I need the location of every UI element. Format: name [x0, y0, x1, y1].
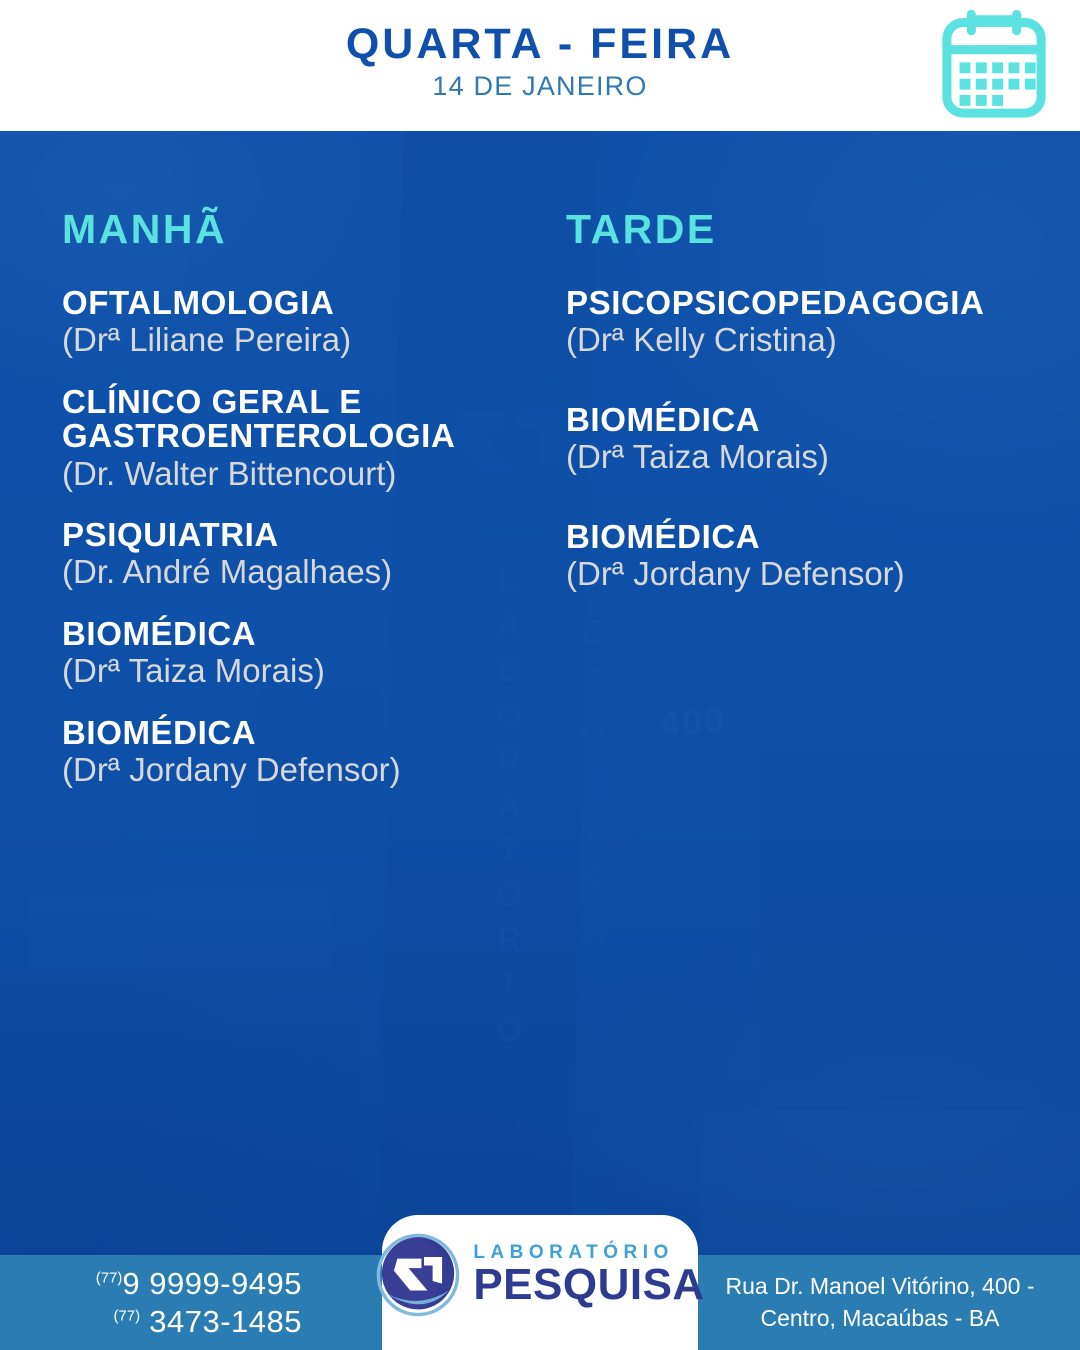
doctor-label: (Drª Taiza Morais) — [62, 652, 542, 690]
period-title-morning: MANHÃ — [62, 209, 542, 250]
footer-address: Rua Dr. Manoel Vitórino, 400 - Centro, M… — [680, 1255, 1080, 1350]
poster-canvas: LABORATÓRIO PESQUISA 400 QUARTA - FEIRA … — [0, 0, 1080, 1350]
logo-line-pesquisa: PESQUISA — [473, 1263, 704, 1307]
list-item: BIOMÉDICA (Drª Taiza Morais) — [62, 617, 542, 690]
phone-digits-2: 3473-1485 — [149, 1304, 302, 1339]
doctor-label: (Drª Taiza Morais) — [566, 438, 1066, 476]
specialty-label: OFTALMOLOGIA — [62, 286, 542, 320]
specialty-label: BIOMÉDICA — [62, 716, 542, 750]
list-item: OFTALMOLOGIA (Drª Liliane Pereira) — [62, 286, 542, 359]
phone-number-1[interactable]: (77)9 9999-9495 — [96, 1265, 302, 1303]
list-item: BIOMÉDICA (Drª Jordany Defensor) — [566, 520, 1066, 593]
doctor-label: (Drª Jordany Defensor) — [566, 555, 1066, 593]
phone-digits-1: 9 9999-9495 — [122, 1266, 302, 1301]
specialty-label: CLÍNICO GERAL E GASTROENTEROLOGIA — [62, 385, 542, 454]
logo-row: LABORATÓRIO PESQUISA — [375, 1232, 704, 1318]
specialty-label: PSIQUIATRIA — [62, 518, 542, 552]
logo-line-laboratorio: LABORATÓRIO — [473, 1243, 704, 1262]
footer-phone-group: (77)9 9999-9495 (77) 3473-1485 — [0, 1255, 380, 1350]
header-bar: QUARTA - FEIRA 14 DE JANEIRO — [0, 0, 1080, 131]
schedule-column-morning: MANHÃ OFTALMOLOGIA (Drª Liliane Pereira)… — [62, 209, 542, 815]
specialty-label: BIOMÉDICA — [566, 403, 1066, 437]
specialty-label: BIOMÉDICA — [62, 617, 542, 651]
doctor-label: (Dr. Walter Bittencourt) — [62, 455, 542, 493]
lab-flask-logo-icon — [375, 1232, 461, 1318]
doctor-label: (Drª Liliane Pereira) — [62, 321, 542, 359]
period-title-afternoon: TARDE — [566, 209, 1066, 250]
doctor-label: (Drª Jordany Defensor) — [62, 751, 542, 789]
page-title: QUARTA - FEIRA — [0, 20, 1080, 68]
specialty-label: PSICOPSICOPEDAGOGIA — [566, 286, 1066, 320]
list-item: BIOMÉDICA (Drª Jordany Defensor) — [62, 716, 542, 789]
doctor-label: (Drª Kelly Cristina) — [566, 321, 1066, 359]
logo-card: LABORATÓRIO PESQUISA — [382, 1215, 698, 1350]
schedule-content: MANHÃ OFTALMOLOGIA (Drª Liliane Pereira)… — [0, 131, 1080, 1350]
list-item: PSICOPSICOPEDAGOGIA (Drª Kelly Cristina) — [566, 286, 1066, 359]
phone-number-2[interactable]: (77) 3473-1485 — [113, 1303, 302, 1341]
logo-wordmark: LABORATÓRIO PESQUISA — [473, 1243, 704, 1307]
schedule-column-afternoon: TARDE PSICOPSICOPEDAGOGIA (Drª Kelly Cri… — [566, 209, 1066, 637]
doctor-label: (Dr. André Magalhaes) — [62, 553, 542, 591]
phone-ddd-2: (77) — [113, 1307, 140, 1324]
phone-ddd-1: (77) — [96, 1269, 123, 1286]
specialty-label: BIOMÉDICA — [566, 520, 1066, 554]
list-item: CLÍNICO GERAL E GASTROENTEROLOGIA (Dr. W… — [62, 385, 542, 492]
list-item: BIOMÉDICA (Drª Taiza Morais) — [566, 403, 1066, 476]
header-title-group: QUARTA - FEIRA 14 DE JANEIRO — [0, 0, 1080, 103]
header-date: 14 DE JANEIRO — [0, 70, 1080, 102]
list-item: PSIQUIATRIA (Dr. André Magalhaes) — [62, 518, 542, 591]
calendar-icon — [936, 8, 1052, 124]
